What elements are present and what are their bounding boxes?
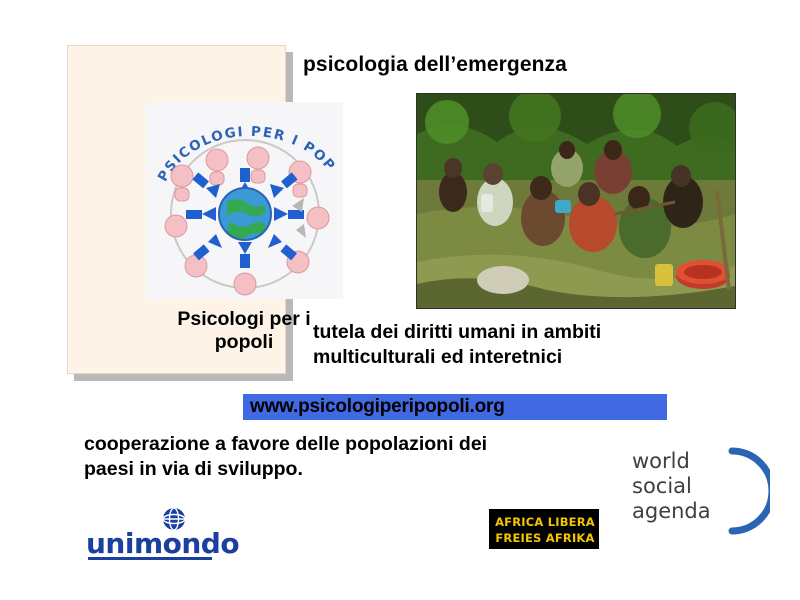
unimondo-wordmark: unimondo [86, 527, 239, 560]
wsa-word-social: social [632, 474, 692, 498]
unimondo-underline [88, 557, 212, 560]
logo-card: PSICOLOGI PER I POPOLI [67, 45, 286, 374]
text-cooperazione-line1: cooperazione a favore delle popolazioni … [84, 432, 604, 457]
africa-libera-logo: AFRICA LIBERA FREIES AFRIKA [489, 509, 599, 549]
africa-libera-line2: FREIES AFRIKA [490, 531, 600, 545]
refugee-camp-photo [416, 93, 736, 309]
psicologi-emblem: PSICOLOGI PER I POPOLI [146, 102, 343, 299]
website-url[interactable]: www.psicologiperipopoli.org [250, 396, 660, 418]
unimondo-logo: unimondo [86, 507, 226, 561]
world-social-agenda-logo: world social agenda [620, 447, 770, 535]
text-cooperazione: cooperazione a favore delle popolazioni … [84, 432, 604, 483]
photo-graphic [417, 94, 735, 308]
slide-canvas: PSICOLOGI PER I POPOLI [0, 0, 800, 600]
text-cooperazione-line2: paesi in via di sviluppo. [84, 457, 604, 482]
text-psicologia-emergenza: psicologia dell’emergenza [303, 53, 567, 77]
wsa-word-agenda: agenda [632, 499, 711, 523]
text-tutela-line1: tutela dei diritti umani in ambiti [313, 320, 733, 345]
text-tutela-line2: multiculturali ed interetnici [313, 345, 733, 370]
wsa-word-world: world [632, 449, 690, 473]
emblem-graphic: PSICOLOGI PER I POPOLI [146, 102, 343, 299]
africa-libera-line1: AFRICA LIBERA [490, 515, 600, 529]
text-tutela-diritti: tutela dei diritti umani in ambiti multi… [313, 320, 733, 370]
